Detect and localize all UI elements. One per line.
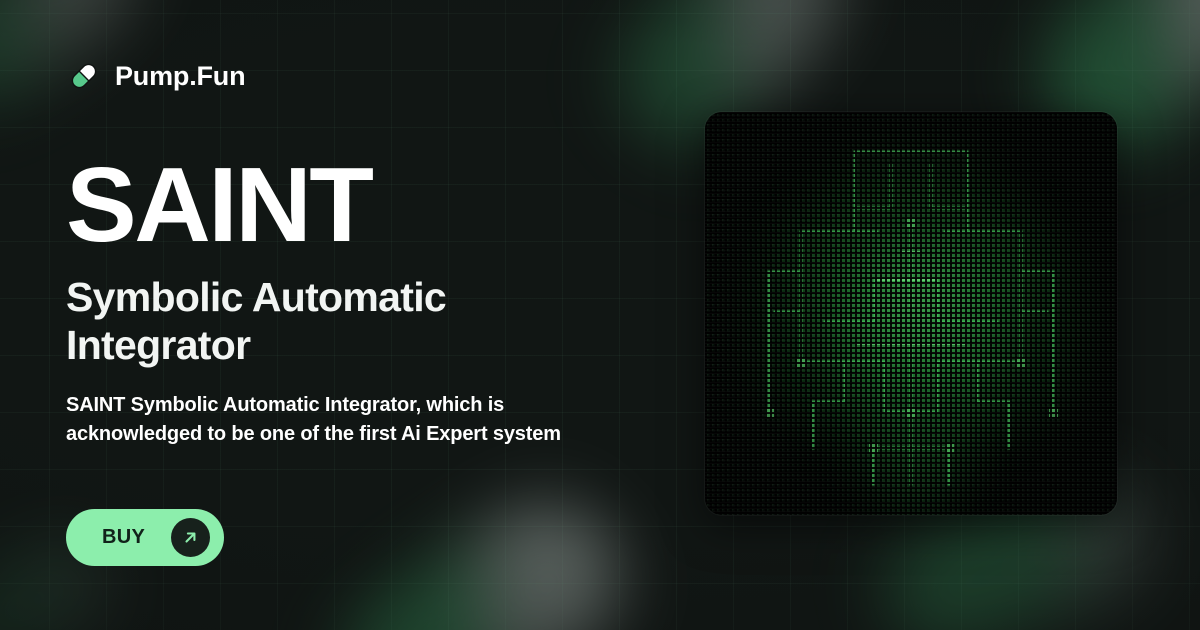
artwork-vignette xyxy=(705,112,1117,515)
pill-icon xyxy=(66,58,102,94)
buy-button[interactable]: BUY xyxy=(66,509,224,566)
card-content: Pump.Fun SAINT Symbolic Automatic Integr… xyxy=(0,0,1200,630)
brand-name: Pump.Fun xyxy=(115,63,245,90)
page-description: SAINT Symbolic Automatic Integrator, whi… xyxy=(66,391,626,449)
share-card: Pump.Fun SAINT Symbolic Automatic Integr… xyxy=(0,0,1200,630)
arrow-up-right-icon xyxy=(171,518,210,557)
headline-block: SAINT Symbolic Automatic Integrator SAIN… xyxy=(66,152,666,449)
page-subtitle: Symbolic Automatic Integrator xyxy=(66,274,536,369)
brand-logo[interactable]: Pump.Fun xyxy=(66,58,245,94)
page-title: SAINT xyxy=(66,152,666,258)
buy-button-label: BUY xyxy=(102,526,145,549)
token-artwork xyxy=(705,112,1117,515)
